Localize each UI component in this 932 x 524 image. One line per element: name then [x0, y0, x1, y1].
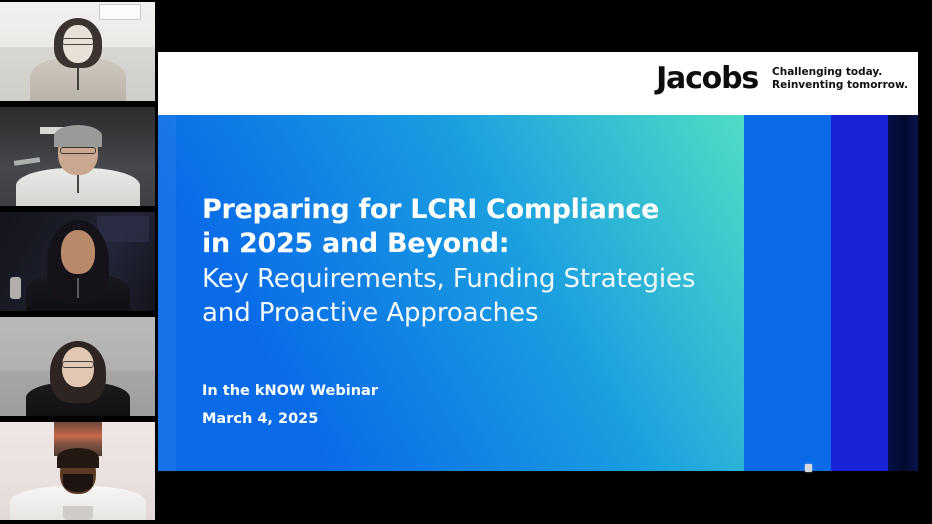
participant-thumbnail[interactable]: [0, 212, 155, 313]
thumbnail-divider: [0, 416, 155, 418]
lanyard-shape: [77, 278, 79, 298]
glasses-icon: [62, 38, 94, 45]
slide-canvas: Preparing for LCRI Compliance in 2025 an…: [158, 115, 918, 471]
band-navy: [888, 115, 918, 471]
webinar-date: March 4, 2025: [202, 405, 378, 433]
screen-share-stage: Jacobs Challenging today. Reinventing to…: [0, 0, 932, 524]
participant-thumbnail[interactable]: [0, 317, 155, 418]
webinar-name: In the kNOW Webinar: [202, 377, 378, 405]
slide-title-block: Preparing for LCRI Compliance in 2025 an…: [202, 193, 695, 331]
slide-title-line-2: in 2025 and Beyond:: [202, 227, 695, 261]
glasses-icon: [62, 361, 94, 368]
shared-content-region[interactable]: Jacobs Challenging today. Reinventing to…: [158, 52, 918, 471]
participant-video-strip[interactable]: [0, 0, 155, 524]
jacobs-brand-lockup: Jacobs Challenging today. Reinventing to…: [656, 64, 908, 94]
slide-subtitle-line-1: Key Requirements, Funding Strategies: [202, 262, 695, 297]
slide-title-line-1: Preparing for LCRI Compliance: [202, 193, 695, 227]
jacobs-logo: Jacobs: [656, 64, 758, 94]
participant-face: [61, 230, 95, 274]
band-deep-blue: [831, 115, 888, 471]
slide-subtitle-line-2: and Proactive Approaches: [202, 296, 695, 331]
participant-thumbnail[interactable]: [0, 422, 155, 522]
glasses-icon: [60, 147, 96, 154]
thumbnail-divider: [0, 206, 155, 208]
thumbnail-divider: [0, 101, 155, 103]
participant-thumbnail[interactable]: [0, 107, 155, 208]
lanyard-shape: [77, 68, 79, 90]
thumbnail-divider: [0, 311, 155, 313]
whiteboard-shape: [99, 4, 141, 20]
slide-left-edge-strip: [158, 115, 176, 471]
band-bright-blue: [744, 115, 831, 471]
jacobs-tagline: Challenging today. Reinventing tomorrow.: [772, 66, 908, 93]
wall-panel-shape: [97, 216, 149, 242]
participant-beard: [63, 474, 93, 492]
participant-thumbnail[interactable]: [0, 2, 155, 103]
thumbnail-divider: [0, 520, 155, 522]
participant-hair: [57, 448, 99, 468]
slide-header-bar: Jacobs Challenging today. Reinventing to…: [158, 52, 918, 115]
participant-hair: [54, 125, 102, 147]
slide-event-info: In the kNOW Webinar March 4, 2025: [202, 377, 378, 434]
lamp-shape: [10, 277, 21, 299]
lanyard-shape: [77, 175, 79, 193]
mouse-pointer: [805, 464, 812, 472]
